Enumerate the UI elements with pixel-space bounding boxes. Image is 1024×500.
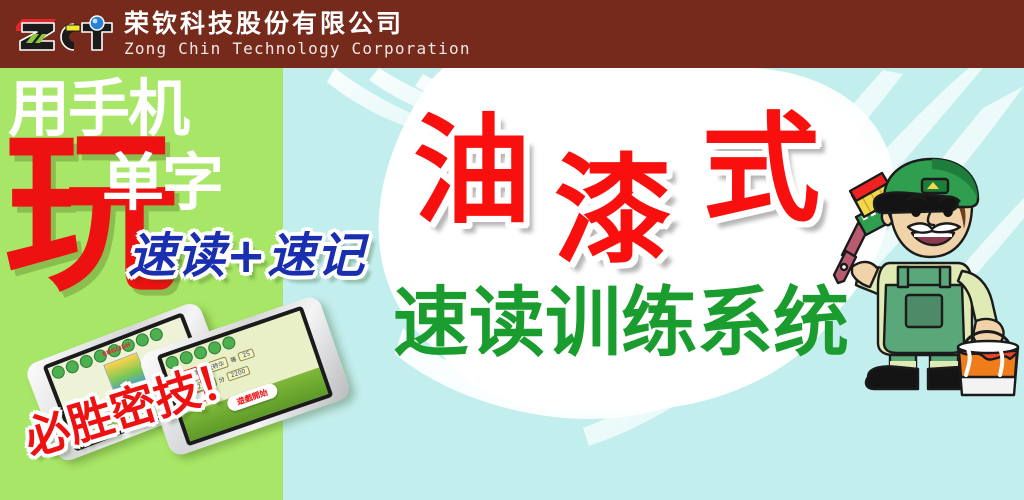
game-icon-7: [134, 332, 151, 349]
left-line-speed-read-memorize: 速读+速记: [128, 232, 365, 280]
company-name-cn: 荣钦科技股份有限公司: [124, 11, 471, 36]
painter-mascot: [812, 155, 1024, 405]
subtitle-speed-reading-system: 速读训练系统: [393, 285, 849, 361]
company-name-en: Zong Chin Technology Corporation: [124, 41, 471, 57]
game-icon-3: [78, 353, 95, 370]
menu-icon-5: [221, 335, 238, 352]
field-value-level[interactable]: 25: [238, 348, 256, 362]
zct-logo-mark: [16, 11, 118, 57]
promo-banner: 荣钦科技股份有限公司 Zong Chin Technology Corporat…: [0, 0, 1024, 500]
zct-logo: [16, 11, 118, 57]
title-char-shi: 式: [702, 110, 820, 228]
left-line-words: 单字: [102, 152, 222, 214]
company-header-bar: 荣钦科技股份有限公司 Zong Chin Technology Corporat…: [0, 0, 1024, 68]
game-icon-2: [64, 358, 81, 375]
game-icon-8: [148, 326, 165, 343]
game-icon-1: [50, 364, 67, 381]
company-name-block: 荣钦科技股份有限公司 Zong Chin Technology Corporat…: [124, 11, 471, 57]
title-char-you: 油: [413, 112, 531, 230]
painter-illustration: [812, 155, 1024, 405]
title-char-qi: 漆: [554, 152, 672, 270]
